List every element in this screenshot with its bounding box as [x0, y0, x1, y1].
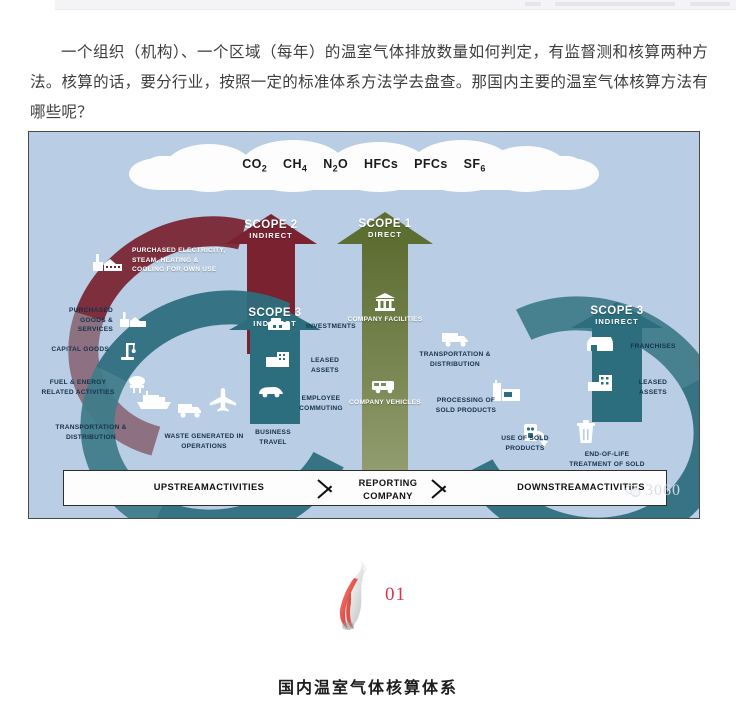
- label-fuel-energy: FUEL & ENERGY RELATED ACTIVITIES: [39, 378, 117, 397]
- gas-n2o: N2O: [323, 157, 348, 171]
- label-use-of-sold-products: USE OF SOLD PRODUCTS: [487, 434, 563, 453]
- truck-icon-transport-upstream: [177, 400, 203, 418]
- wechat-watermark: 3060: [625, 482, 681, 500]
- ghg-scopes-diagram: CO2 CH4 N2O HFCs PFCs SF6 SCOPE 2 INDIRE…: [28, 131, 700, 519]
- label-capital-goods: CAPITAL GOODS: [47, 345, 109, 355]
- label-franchises: FRANCHISES: [625, 342, 681, 352]
- truck-icon-transport-downstream: [441, 330, 471, 348]
- wechat-logo-icon: [625, 484, 641, 498]
- label-leased-assets-downstream: LEASED ASSETS: [625, 378, 681, 397]
- banner-upstream: UPSTREAMACTIVITIES: [84, 482, 334, 492]
- factory-icon-electricity: [91, 250, 125, 272]
- scope1-label: SCOPE 1 DIRECT: [337, 218, 433, 239]
- banner-reporting-company: REPORTING COMPANY: [342, 477, 434, 502]
- koi-fish-ornament-icon: [330, 558, 386, 632]
- label-purchased-goods: PURCHASED GOODS & SERVICES: [43, 306, 113, 335]
- label-transportation-downstream: TRANSPORTATION & DISTRIBUTION: [407, 350, 503, 369]
- ghost-title-text: [555, 2, 675, 6]
- store-icon-franchises: [585, 336, 615, 352]
- bank-icon-investments: [267, 316, 293, 332]
- label-processing-sold-products: PROCESSING OF SOLD PRODUCTS: [431, 396, 501, 415]
- article-paragraph: 一个组织（机构）、一个区域（每年）的温室气体排放数量如何判定，有监督测和核算两种…: [30, 38, 708, 128]
- greenhouse-gas-cloud: CO2 CH4 N2O HFCs PFCs SF6: [129, 140, 599, 202]
- gas-pfcs: PFCs: [414, 157, 448, 171]
- gas-co2: CO2: [242, 157, 267, 171]
- label-waste-generated: WASTE GENERATED IN OPERATIONS: [159, 432, 249, 451]
- chevron-divider-right-icon: [432, 471, 454, 505]
- gas-ch4: CH4: [283, 157, 307, 171]
- section-caption: 国内温室气体核算体系: [0, 674, 736, 698]
- label-business-travel: BUSINESS TRAVEL: [245, 428, 301, 447]
- section-marker: 01: [330, 558, 450, 633]
- company-facilities-icon: [374, 292, 396, 312]
- gas-hfcs: HFCs: [364, 157, 398, 171]
- label-company-vehicles: COMPANY VEHICLES: [345, 398, 425, 408]
- section-number: 01: [385, 584, 406, 606]
- value-chain-banner: UPSTREAMACTIVITIES REPORTING COMPANY DOW…: [63, 470, 667, 506]
- building-icon-leased-assets-upstream: [265, 350, 291, 368]
- crane-icon-capital-goods: [117, 340, 139, 362]
- trash-bin-icon-end-of-life: [575, 420, 597, 444]
- car-icon-employee-commuting: [257, 384, 285, 398]
- building-icon-leased-assets-downstream: [587, 372, 615, 392]
- ghost-action-text: [690, 2, 730, 6]
- scope3-right-label: SCOPE 3 INDIRECT: [571, 305, 663, 326]
- ship-icon-transport-upstream: [135, 390, 173, 410]
- top-partial-toolbar: [55, 0, 736, 10]
- label-company-facilities: COMPANY FACILITIES: [345, 315, 425, 325]
- plane-icon-business-travel: [209, 387, 239, 413]
- label-purchased-electricity: PURCHASED ELECTRICITY, STEAM, HEATING & …: [132, 246, 230, 275]
- label-transportation-upstream: TRANSPORTATION & DISTRIBUTION: [43, 423, 139, 442]
- scope2-label: SCOPE 2 INDIRECT: [225, 219, 317, 240]
- chevron-divider-left-icon: [318, 471, 340, 505]
- watermark-text: 3060: [645, 482, 681, 500]
- company-vehicles-icon: [371, 378, 399, 394]
- greenhouse-gas-list: CO2 CH4 N2O HFCs PFCs SF6: [129, 157, 599, 174]
- factory-icon-goods: [119, 308, 147, 328]
- scope3-right-arrow: SCOPE 3 INDIRECT: [571, 302, 663, 422]
- ghost-search-icon: [525, 2, 541, 6]
- gas-sf6: SF6: [464, 157, 486, 171]
